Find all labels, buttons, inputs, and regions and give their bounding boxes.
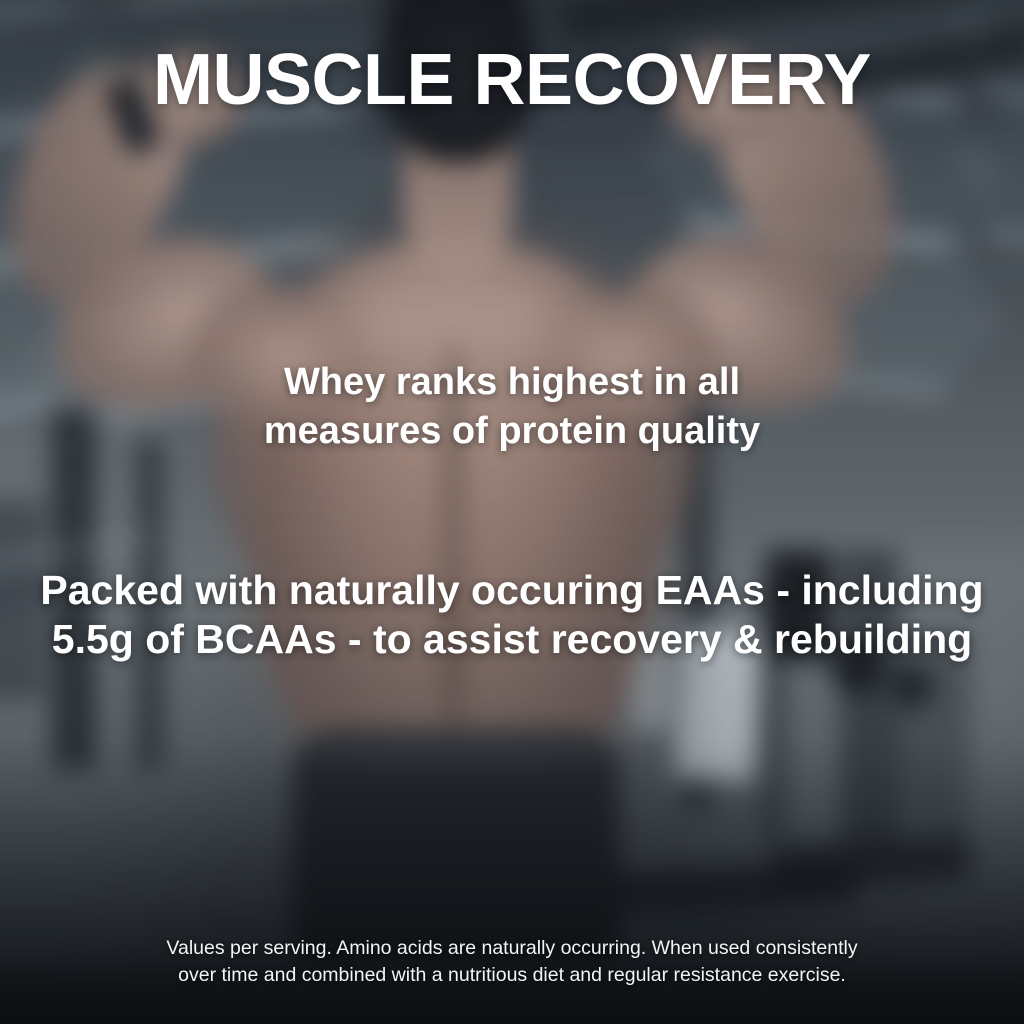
disclaimer-text: Values per serving. Amino acids are natu…	[0, 935, 1024, 990]
marketing-image-canvas: MUSCLE RECOVERY Whey ranks highest in al…	[0, 0, 1024, 1024]
disclaimer-line-2: over time and combined with a nutritious…	[0, 962, 1024, 990]
page-title: MUSCLE RECOVERY	[0, 44, 1024, 116]
subheadline-line-2: measures of protein quality	[0, 407, 1024, 456]
disclaimer-line-1: Values per serving. Amino acids are natu…	[0, 935, 1024, 963]
body-copy-line-2: 5.5g of BCAAs - to assist recovery & reb…	[0, 615, 1024, 664]
text-overlay: MUSCLE RECOVERY Whey ranks highest in al…	[0, 0, 1024, 1024]
subheadline-line-1: Whey ranks highest in all	[0, 358, 1024, 407]
body-copy-line-1: Packed with naturally occuring EAAs - in…	[0, 566, 1024, 615]
subheadline: Whey ranks highest in all measures of pr…	[0, 358, 1024, 455]
body-copy: Packed with naturally occuring EAAs - in…	[0, 566, 1024, 664]
